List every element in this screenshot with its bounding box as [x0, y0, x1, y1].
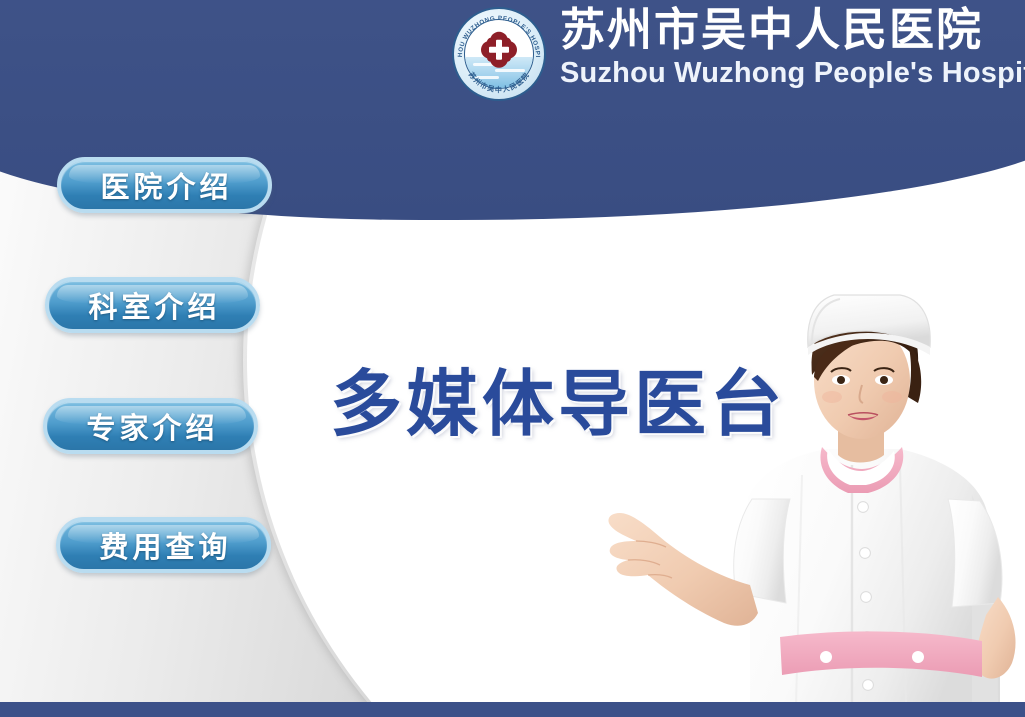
sidebar-item-label: 科室介绍: [84, 284, 220, 326]
hospital-name-cn: 苏州市吴中人民医院: [560, 6, 1025, 55]
sidebar-item-label: 费用查询: [95, 524, 231, 566]
sidebar-item-department-intro[interactable]: 科室介绍: [45, 277, 260, 333]
header: SUZHOU WUZHONG PEOPLE'S HOSPITAL 苏州市吴中人民…: [452, 4, 1022, 112]
wave-line: [495, 69, 525, 72]
footer-bar: [0, 702, 1025, 717]
logo-inner-circle: [464, 19, 534, 89]
medical-cross-icon: [481, 32, 517, 68]
sidebar-item-label: 医院介绍: [96, 164, 232, 206]
white-cross: [488, 39, 510, 61]
sidebar-item-hospital-intro[interactable]: 医院介绍: [57, 157, 272, 213]
hospital-seal-logo: SUZHOU WUZHONG PEOPLE'S HOSPITAL 苏州市吴中人民…: [452, 7, 546, 101]
page-title: 多媒体导医台: [330, 368, 786, 440]
sidebar-item-fee-inquiry[interactable]: 费用查询: [56, 517, 271, 573]
header-titles: 苏州市吴中人民医院 Suzhou Wuzhong People's Hospit…: [560, 4, 1025, 90]
wave-line: [475, 76, 499, 79]
sidebar-nav: 医院介绍 科室介绍 专家介绍 费用查询: [0, 0, 330, 717]
kiosk-screen: SUZHOU WUZHONG PEOPLE'S HOSPITAL 苏州市吴中人民…: [0, 0, 1025, 717]
sidebar-item-expert-intro[interactable]: 专家介绍: [43, 398, 258, 454]
hospital-name-en: Suzhou Wuzhong People's Hospital: [560, 57, 1025, 90]
sidebar-item-label: 专家介绍: [82, 405, 218, 447]
